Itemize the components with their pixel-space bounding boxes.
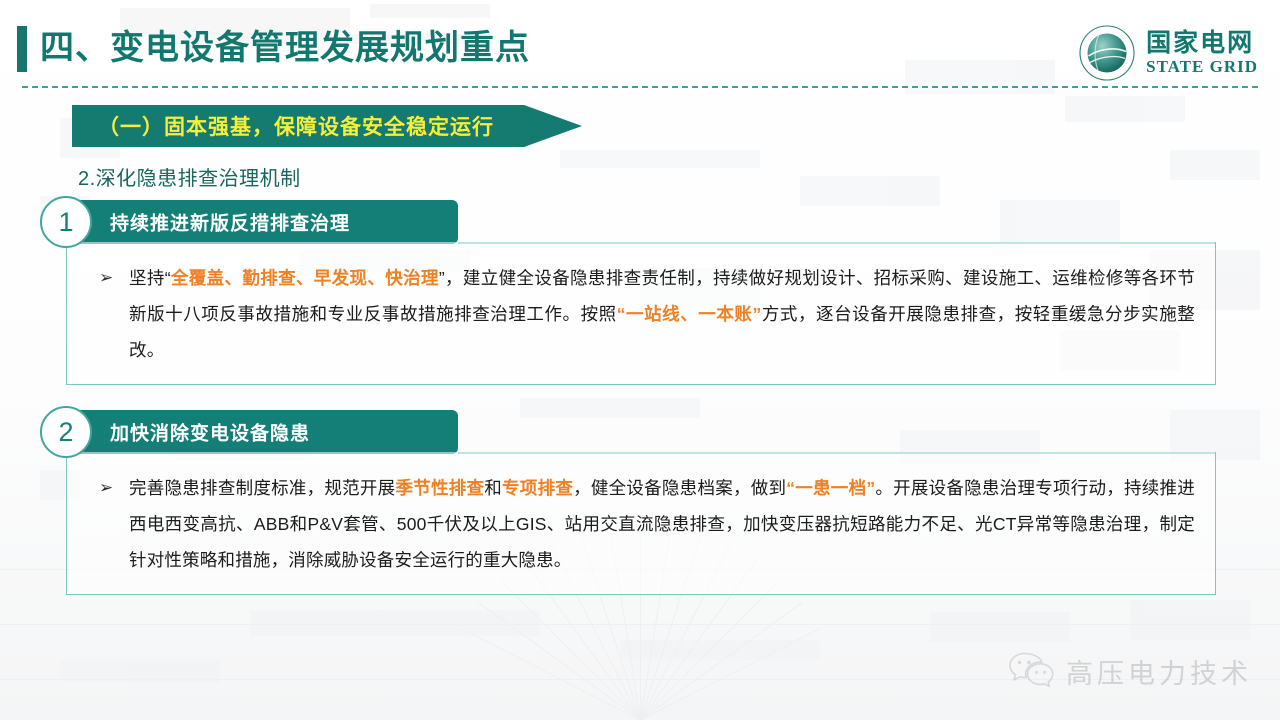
brand-name-en: STATE GRID: [1146, 58, 1258, 75]
header-divider: [22, 86, 1258, 88]
highlighted-phrase: 专项排查: [502, 478, 573, 498]
paragraph-text: ，健全设备隐患档案，做到: [573, 478, 786, 498]
paragraph-text: 和: [484, 478, 502, 498]
state-grid-globe-emblem-icon: [1078, 24, 1136, 82]
highlighted-phrase: 全覆盖、勤排查、早发现、快治理: [171, 268, 439, 288]
paragraph-text: 坚持: [129, 268, 165, 288]
watermark: 高压电力技术: [1008, 651, 1252, 692]
wechat-icon: [1008, 651, 1054, 692]
brand-wordmark: 国家电网 STATE GRID: [1146, 31, 1258, 75]
bullet-arrow-icon: ➢: [99, 470, 113, 506]
highlighted-phrase: “一患一档”: [786, 478, 875, 498]
sub-heading: 2.深化隐患排查治理机制: [78, 162, 301, 191]
paragraph-text: 完善隐患排查制度标准，规范开展: [129, 478, 395, 498]
bullet-arrow-icon: ➢: [99, 260, 113, 296]
brand-name-cn: 国家电网: [1146, 31, 1258, 56]
section-banner-label: （一）固本强基，保障设备安全稳定运行: [98, 111, 494, 141]
section-banner: （一）固本强基，保障设备安全稳定运行: [72, 105, 582, 147]
section-paragraph: ➢完善隐患排查制度标准，规范开展季节性排查和专项排查，健全设备隐患档案，做到“一…: [85, 470, 1195, 578]
section-body: ➢完善隐患排查制度标准，规范开展季节性排查和专项排查，健全设备隐患档案，做到“一…: [66, 452, 1216, 595]
section-number-badge: 2: [40, 406, 92, 458]
section-heading: 持续推进新版反措排查治理: [110, 209, 350, 236]
highlighted-phrase: 季节性排查: [395, 478, 484, 498]
page-title: 四、变电设备管理发展规划重点: [40, 20, 530, 69]
section-header-bar: 加快消除变电设备隐患: [58, 410, 458, 454]
section-paragraph: ➢坚持“全覆盖、勤排查、早发现、快治理”，建立健全设备隐患排查责任制，持续做好规…: [85, 260, 1195, 368]
section-body: ➢坚持“全覆盖、勤排查、早发现、快治理”，建立健全设备隐患排查责任制，持续做好规…: [66, 242, 1216, 385]
section-heading: 加快消除变电设备隐患: [110, 419, 310, 446]
brand-logo: 国家电网 STATE GRID: [1078, 24, 1258, 82]
section-header-bar: 持续推进新版反措排查治理: [58, 200, 458, 244]
section-number-badge: 1: [40, 196, 92, 248]
title-accent-bar: [17, 26, 27, 72]
slide-canvas: 四、变电设备管理发展规划重点 国家电网 ST: [0, 0, 1280, 720]
highlighted-phrase: “一站线、一本账”: [617, 304, 762, 324]
watermark-text: 高压电力技术: [1066, 652, 1252, 691]
